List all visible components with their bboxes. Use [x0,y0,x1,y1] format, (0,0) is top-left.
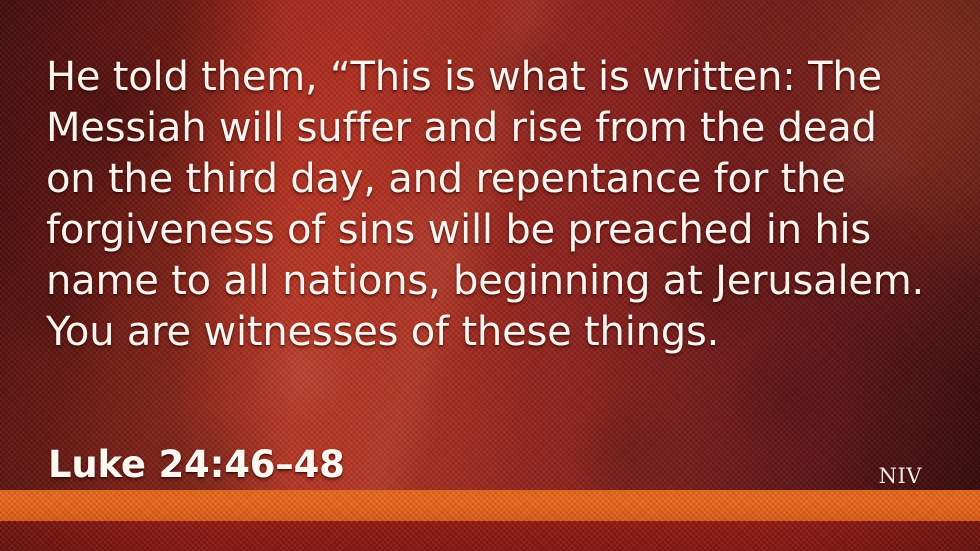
verse-line: on the third day, and repentance for the [46,154,946,205]
translation-label: NIV [879,464,922,488]
verse-line: He told them, “This is what is written: … [46,52,946,103]
verse-line: Messiah will suffer and rise from the de… [46,103,946,154]
scripture-reference: Luke 24:46–48 [48,443,345,487]
verse-text-block: He told them, “This is what is written: … [46,52,946,358]
accent-bar-orange [0,490,980,521]
footer-bar-texture [0,521,980,551]
scripture-slide: He told them, “This is what is written: … [0,0,980,551]
verse-line: name to all nations, beginning at Jerusa… [46,256,946,307]
verse-line: You are witnesses of these things. [46,307,946,358]
accent-bar-texture [0,490,980,521]
verse-line: forgiveness of sins will be preached in … [46,205,946,256]
footer-bar-dark [0,521,980,551]
